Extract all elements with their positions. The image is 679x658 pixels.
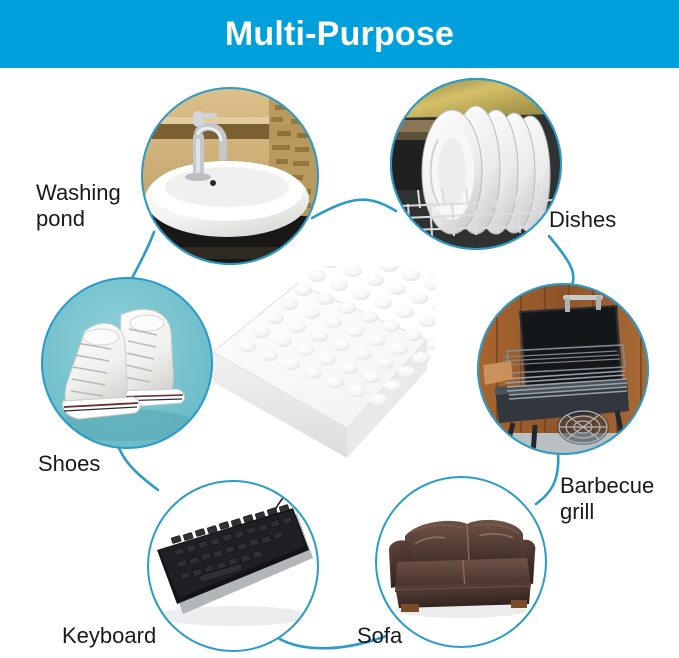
product-bumper-pad-sheet [205,266,435,466]
page-title: Multi-Purpose [225,17,454,51]
node-dishes[interactable] [390,78,562,250]
label-shoes: Shoes [38,451,100,477]
label-barbecue-grill: Barbecue grill [560,473,654,525]
node-shoes[interactable] [41,277,213,449]
label-sofa: Sofa [357,623,402,649]
label-washing-pond: Washing pond [36,180,121,232]
node-washing-pond[interactable] [141,87,319,265]
label-dishes: Dishes [549,207,616,233]
label-keyboard: Keyboard [62,623,156,649]
infographic-stage: Washing pond Dishes Shoes Barbecue grill… [0,68,679,658]
node-barbecue-grill[interactable] [477,283,649,455]
header-banner: Multi-Purpose [0,0,679,68]
node-keyboard[interactable] [147,480,319,652]
